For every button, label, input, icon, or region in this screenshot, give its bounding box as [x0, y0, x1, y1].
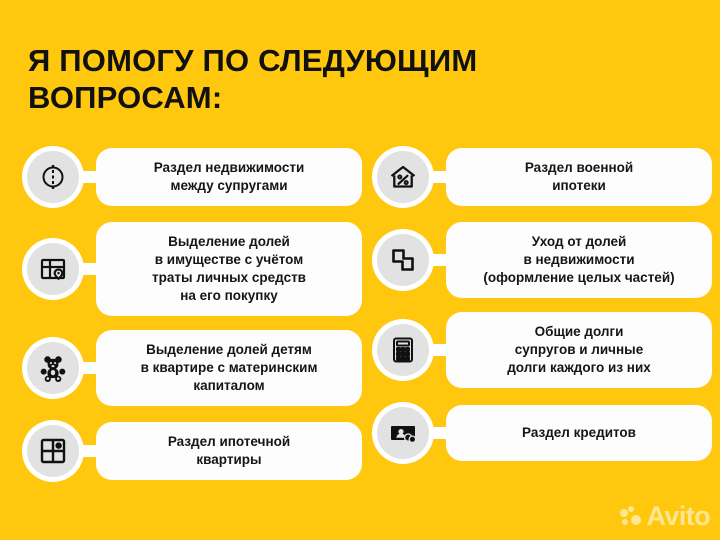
item-card: Выделение долей детям в квартире с матер… [96, 330, 362, 406]
icon-badge [22, 337, 84, 399]
icon-badge [372, 146, 434, 208]
page-title: Я ПОМОГУ ПО СЛЕДУЮЩИМ ВОПРОСАМ: [28, 42, 648, 116]
house-percent-icon [377, 151, 429, 203]
list-item[interactable]: Раздел недвижимости между супругами [22, 146, 362, 208]
icon-badge [22, 420, 84, 482]
item-label: Выделение долей детям в квартире с матер… [141, 341, 318, 395]
credit-card-person-icon [377, 407, 429, 459]
item-label: Раздел военной ипотеки [525, 159, 633, 195]
item-card: Раздел ипотечной квартиры [96, 422, 362, 480]
item-label: Уход от долей в недвижимости (оформление… [483, 233, 674, 287]
avito-dots-icon [620, 506, 642, 528]
icon-badge [372, 319, 434, 381]
item-label: Общие долги супругов и личные долги кажд… [507, 323, 651, 377]
list-item[interactable]: Общие долги супругов и личные долги кажд… [372, 312, 712, 388]
quadrant-grid-icon [27, 425, 79, 477]
list-item[interactable]: Выделение долей детям в квартире с матер… [22, 330, 362, 406]
icon-badge [372, 229, 434, 291]
floor-plan-pin-icon [27, 243, 79, 295]
right-column: Раздел военной ипотеки Уход от долей в н… [372, 146, 712, 464]
item-card: Раздел недвижимости между супругами [96, 148, 362, 206]
item-card: Раздел кредитов [446, 405, 712, 461]
item-card: Раздел военной ипотеки [446, 148, 712, 206]
list-item[interactable]: Уход от долей в недвижимости (оформление… [372, 222, 712, 298]
avito-watermark: Avito [620, 503, 711, 530]
left-column: Раздел недвижимости между супругами [22, 146, 362, 482]
item-card: Общие долги супругов и личные долги кажд… [446, 312, 712, 388]
item-card: Выделение долей в имуществе с учётом тра… [96, 222, 362, 316]
poster-canvas: Я ПОМОГУ ПО СЛЕДУЮЩИМ ВОПРОСАМ: Р [0, 0, 720, 540]
item-card: Уход от долей в недвижимости (оформление… [446, 222, 712, 298]
list-item[interactable]: Раздел ипотечной квартиры [22, 420, 362, 482]
icon-badge [22, 238, 84, 300]
list-item[interactable]: Раздел кредитов [372, 402, 712, 464]
item-label: Раздел ипотечной квартиры [168, 433, 290, 469]
avito-wordmark: Avito [647, 503, 711, 530]
divided-circle-icon [27, 151, 79, 203]
calculator-icon [377, 324, 429, 376]
item-label: Раздел недвижимости между супругами [154, 159, 305, 195]
icon-badge [22, 146, 84, 208]
item-label: Раздел кредитов [522, 424, 636, 442]
icon-badge [372, 402, 434, 464]
overlapping-squares-icon [377, 234, 429, 286]
item-label: Выделение долей в имуществе с учётом тра… [152, 233, 306, 305]
teddy-bear-icon [27, 342, 79, 394]
list-item[interactable]: Выделение долей в имуществе с учётом тра… [22, 222, 362, 316]
list-item[interactable]: Раздел военной ипотеки [372, 146, 712, 208]
